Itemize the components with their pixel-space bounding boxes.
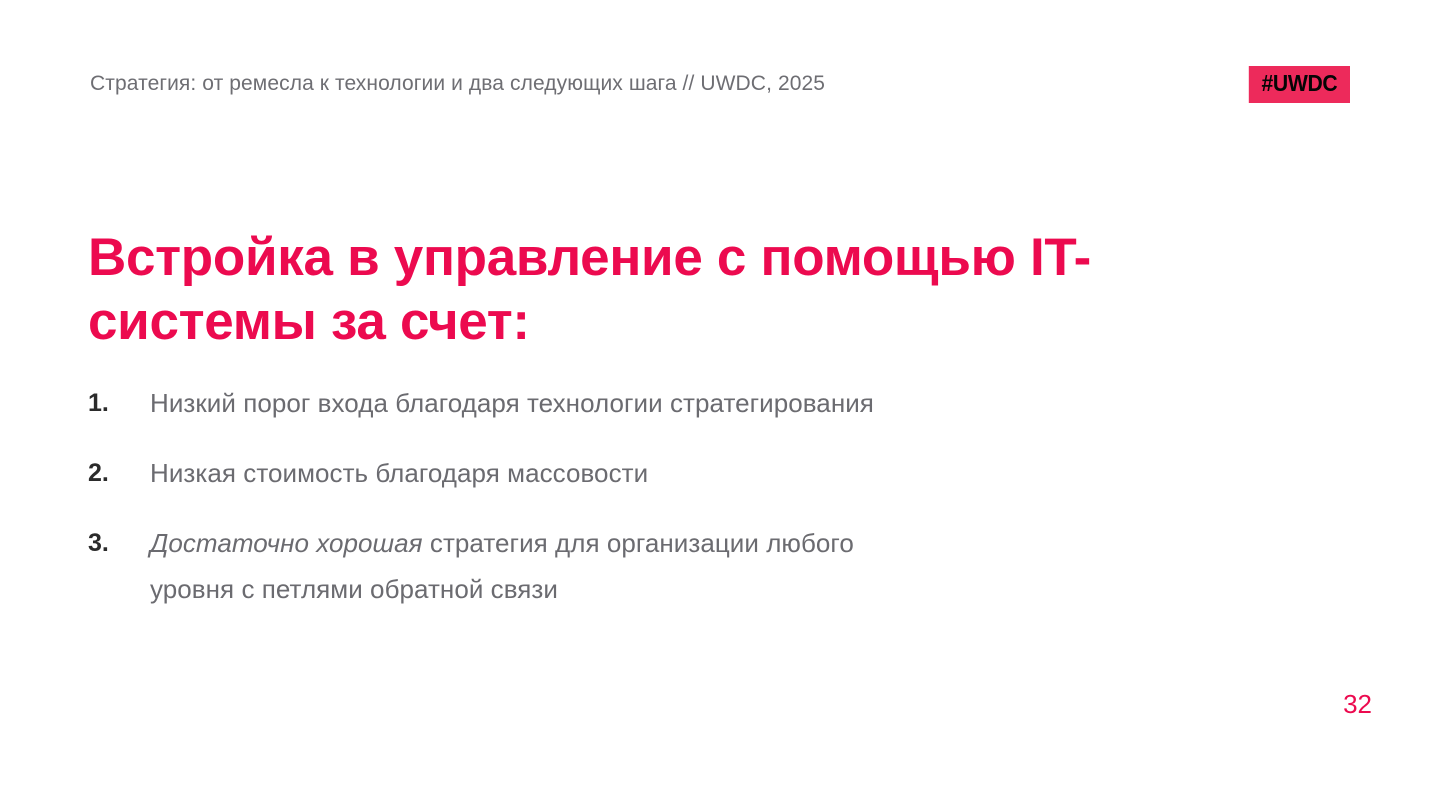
- list-item-number: 2.: [88, 450, 150, 496]
- list-item: 1. Низкий порог входа благодаря технолог…: [88, 380, 908, 426]
- numbered-list: 1. Низкий порог входа благодаря технолог…: [88, 380, 908, 612]
- list-item-emphasis: Достаточно хорошая: [150, 528, 423, 558]
- list-item-body: Низкий порог входа благодаря технологии …: [150, 388, 874, 418]
- list-item-text: Низкая стоимость благодаря массовости: [150, 450, 908, 496]
- list-item-text: Достаточно хорошая стратегия для организ…: [150, 520, 908, 612]
- list-item-text: Низкий порог входа благодаря технологии …: [150, 380, 908, 426]
- header-subtitle: Стратегия: от ремесла к технологии и два…: [90, 70, 825, 98]
- slide: Стратегия: от ремесла к технологии и два…: [0, 0, 1440, 810]
- list-item-number: 1.: [88, 380, 150, 426]
- list-item: 3. Достаточно хорошая стратегия для орга…: [88, 520, 908, 612]
- list-item: 2. Низкая стоимость благодаря массовости: [88, 450, 908, 496]
- page-number: 32: [1343, 688, 1372, 720]
- page-title: Встройка в управление с помощью IT-систе…: [88, 226, 1278, 354]
- list-item-body: Низкая стоимость благодаря массовости: [150, 458, 648, 488]
- list-item-number: 3.: [88, 520, 150, 566]
- uwdc-brand-badge: #UWDC: [1249, 66, 1350, 103]
- slide-header: Стратегия: от ремесла к технологии и два…: [90, 64, 1350, 104]
